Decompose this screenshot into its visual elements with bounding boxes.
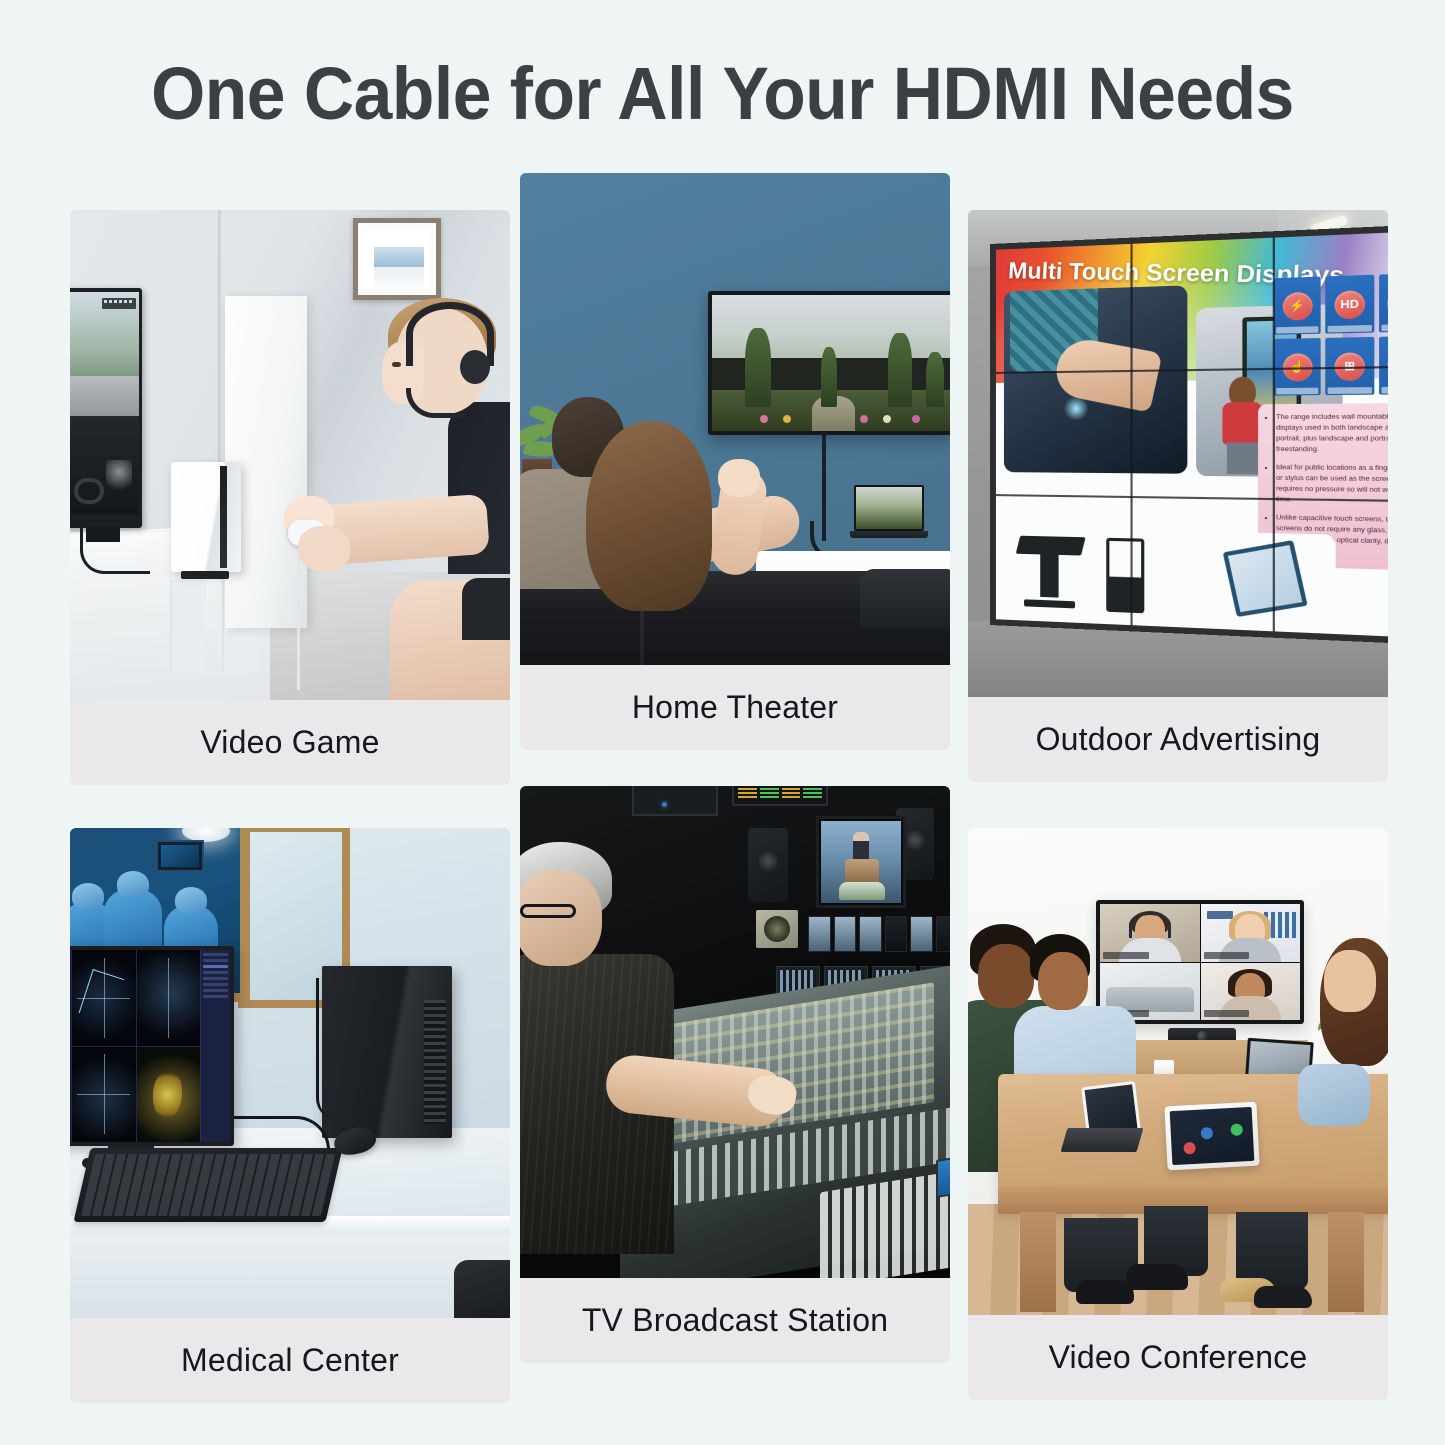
touch-point-glow <box>1063 397 1090 420</box>
video-call-grid <box>1100 904 1300 1020</box>
share-button[interactable] <box>1201 1127 1214 1140</box>
shopper-top <box>1222 402 1262 445</box>
tile-medical-center[interactable]: Medical Center <box>70 828 510 1403</box>
call-end-button[interactable] <box>1183 1142 1196 1155</box>
laptop-screen <box>854 485 924 531</box>
display-stands-photo <box>1004 527 1192 621</box>
tablet-keyboard <box>1061 1128 1144 1152</box>
vessel-trace <box>78 969 124 1023</box>
preview-monitor <box>885 916 908 952</box>
attendee-head <box>978 944 1034 1008</box>
television <box>70 288 142 528</box>
scan-view <box>72 1047 136 1143</box>
laptop <box>850 485 928 543</box>
participant-name-label <box>1103 952 1149 959</box>
participant-tile <box>1100 904 1200 962</box>
wall-mounted-tv <box>708 291 950 435</box>
list-item <box>203 983 228 986</box>
participant-tile <box>1201 963 1301 1021</box>
tile-video-conference[interactable]: Video Conference <box>968 828 1388 1400</box>
movie-flower <box>912 415 920 423</box>
video-wall-screen: Multi Touch Screen Displays <box>996 231 1388 638</box>
movie-tree <box>821 347 837 407</box>
surgical-cap <box>175 887 207 913</box>
or-monitor <box>156 840 204 872</box>
list-item <box>203 995 228 998</box>
monitor-screen <box>70 950 230 1142</box>
scan-view-3d <box>137 1047 201 1143</box>
tile-caption: Home Theater <box>520 665 950 750</box>
participant-name-label <box>1204 1010 1250 1017</box>
tile-video-game[interactable]: Video Game <box>70 210 510 785</box>
list-item <box>203 989 228 992</box>
stand-column <box>1040 552 1058 597</box>
table-stand-illustration <box>1018 536 1083 609</box>
totem-stand-illustration <box>1106 538 1144 614</box>
game-hud-timer <box>102 298 136 309</box>
scan-view <box>137 950 201 1046</box>
tile-caption: Medical Center <box>70 1318 510 1403</box>
movie-flower <box>860 415 868 423</box>
outdoor-advertising-photo: Multi Touch Screen Displays <box>968 210 1388 697</box>
preview-monitor <box>834 916 857 952</box>
shoe <box>1254 1286 1312 1308</box>
medical-center-photo <box>70 828 510 1318</box>
attendee-sleeve <box>1298 1064 1370 1126</box>
keyboard-keys <box>81 1154 335 1216</box>
player-eye <box>392 362 401 367</box>
page-title: One Cable for All Your HDMI Needs <box>43 52 1401 136</box>
preview-monitor <box>936 916 951 952</box>
feature-card: HD <box>1326 275 1374 334</box>
woman-hand <box>718 459 760 497</box>
tile-caption: Outdoor Advertising <box>968 697 1388 782</box>
led-meter <box>803 788 822 800</box>
feature-card-label <box>1381 324 1388 332</box>
feature-card: ✦ <box>1379 273 1388 333</box>
speaker-cone <box>756 849 780 873</box>
desk-lower-panel <box>70 1234 510 1318</box>
feature-card: ⚡ <box>1274 277 1321 335</box>
console-logo-icon <box>177 468 187 478</box>
list-item <box>203 959 228 962</box>
participant-name-label <box>1204 952 1250 959</box>
crosshair <box>104 1054 105 1134</box>
feature-card-label <box>1276 388 1319 395</box>
high-definition-icon: HD <box>1335 290 1365 319</box>
game-console <box>171 462 241 572</box>
engineer-head <box>520 870 602 966</box>
usage-24-7-icon: ⚡ <box>1282 291 1312 320</box>
preview-monitor <box>910 916 933 952</box>
led-meter <box>782 788 801 800</box>
scan-view <box>72 950 136 1046</box>
participant-tile <box>1201 904 1301 962</box>
organ-render <box>153 1071 182 1119</box>
list-item <box>203 977 228 980</box>
tv-screen <box>712 295 950 431</box>
console-base <box>181 571 229 579</box>
tv-broadcast-photo <box>520 786 950 1278</box>
tablet-illustration-photo <box>1200 532 1335 628</box>
led-meter-panel <box>732 786 828 806</box>
tile-caption: Video Game <box>70 700 510 785</box>
program-feed-screen <box>821 821 901 903</box>
tile-home-theater[interactable]: Home Theater <box>520 173 950 750</box>
list-item <box>203 971 228 974</box>
tablet-outline <box>1223 540 1308 617</box>
bullet-item: The range includes wall mountable displa… <box>1276 412 1388 456</box>
radiology-monitor <box>70 946 234 1146</box>
movie-tree <box>888 333 912 406</box>
video-wall: Multi Touch Screen Displays <box>990 224 1388 645</box>
feature-card-label <box>1276 326 1319 333</box>
tile-tv-broadcast-station[interactable]: TV Broadcast Station <box>520 786 950 1363</box>
list-item <box>203 965 228 968</box>
frame-artwork <box>374 247 424 289</box>
frame-mat <box>364 229 430 289</box>
game-steering-wheel <box>74 478 104 504</box>
laptop-keyboard-base <box>850 531 928 538</box>
console-vent <box>220 466 227 568</box>
led-meter <box>760 788 779 800</box>
table-leg <box>1020 1212 1056 1312</box>
studio-speaker <box>748 828 788 902</box>
headset-earcup-icon <box>460 350 490 384</box>
attendee-head <box>1038 952 1088 1010</box>
hdmi-cable <box>80 526 150 574</box>
tile-caption: TV Broadcast Station <box>520 1278 950 1363</box>
crosshair <box>168 958 169 1038</box>
movie-flower <box>760 415 768 423</box>
player-shorts <box>462 578 510 640</box>
surgical-cap <box>117 871 149 897</box>
list-item <box>203 953 228 956</box>
program-monitor <box>816 816 906 908</box>
feature-icon-grid: ⚡ HD ✦ ☝ ⊞ <box>1274 273 1388 396</box>
pc-tower <box>322 966 452 1138</box>
movie-tree <box>926 352 944 406</box>
tablet-screen[interactable] <box>1170 1107 1255 1165</box>
desk-shelf-slot <box>170 580 206 672</box>
video-wall-bezel <box>1273 238 1275 632</box>
video-game-photo <box>70 210 510 700</box>
movie-tree <box>745 328 771 407</box>
sofa-armrest <box>860 569 950 629</box>
eyeglasses-icon <box>520 904 576 918</box>
feature-card-label <box>1328 387 1372 394</box>
preview-monitor-row <box>808 916 950 952</box>
preview-monitor <box>859 916 882 952</box>
led-meter <box>738 788 757 800</box>
tower-vent <box>424 1000 446 1124</box>
laptop-screen-image <box>856 487 922 529</box>
picture-frame <box>353 218 441 300</box>
stand-base <box>1024 599 1075 608</box>
study-list-panel <box>200 950 230 1142</box>
call-answer-button[interactable] <box>1230 1123 1243 1136</box>
speaker-cone <box>903 828 927 852</box>
shopper-legs <box>1227 442 1258 474</box>
video-conference-photo <box>968 828 1388 1315</box>
feature-card-label <box>1328 325 1372 333</box>
conference-display <box>1096 900 1304 1024</box>
hdmi-cable <box>316 978 338 1120</box>
touch-demo-photo <box>1004 285 1187 473</box>
preview-monitor <box>808 916 831 952</box>
imaging-quadrants <box>72 950 200 1142</box>
woman-hair <box>586 421 712 611</box>
attendee-head <box>1324 950 1376 1012</box>
home-theater-photo <box>520 173 950 665</box>
video-wall-bezel <box>1130 244 1132 625</box>
headset-icon <box>1129 912 1171 938</box>
tile-caption: Video Conference <box>968 1315 1388 1400</box>
rack-monitor <box>632 786 718 816</box>
tv-screen <box>70 292 139 514</box>
player-hand <box>298 526 350 572</box>
tile-outdoor-advertising[interactable]: Multi Touch Screen Displays <box>968 210 1388 782</box>
shoe <box>1126 1264 1188 1290</box>
room-control-tablet[interactable] <box>1164 1102 1259 1171</box>
surgical-cap <box>72 883 104 909</box>
game-overlay-glow <box>106 460 132 500</box>
table-leg <box>1328 1212 1364 1312</box>
feature-card-label <box>1381 387 1388 394</box>
vintage-monitor-speaker <box>756 910 798 948</box>
stage-flowers <box>839 882 885 900</box>
keyboard <box>73 1148 342 1222</box>
slide-title-block <box>1207 911 1233 919</box>
speaker-cone <box>764 916 790 942</box>
office-chair <box>454 1260 510 1318</box>
